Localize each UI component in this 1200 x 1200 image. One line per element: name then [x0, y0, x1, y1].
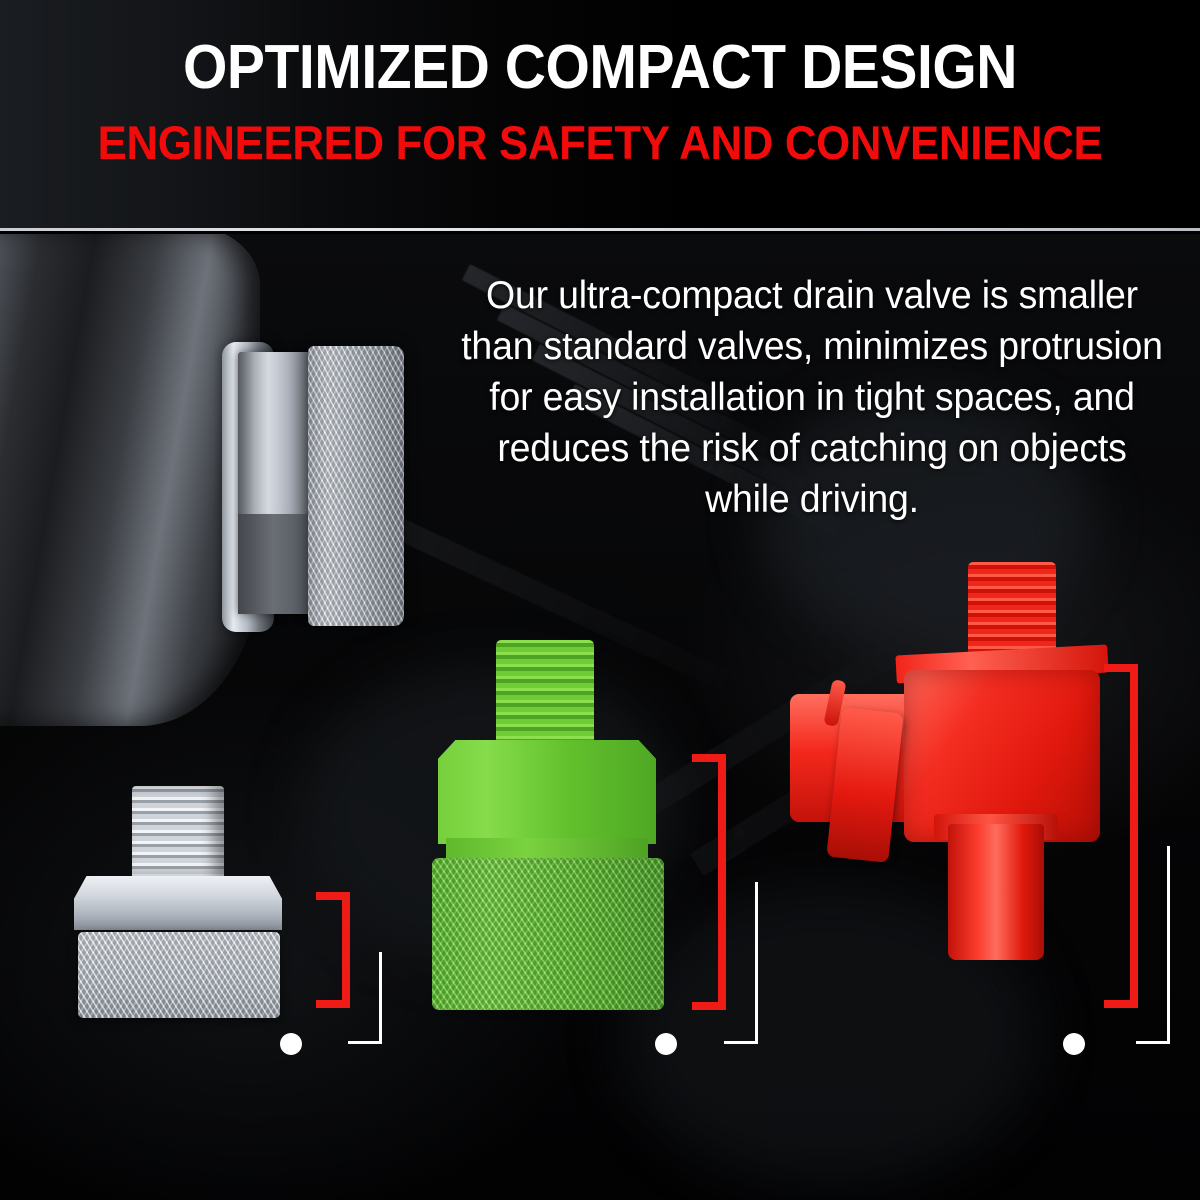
- header-band: OPTIMIZED COMPACT DESIGN ENGINEERED FOR …: [0, 0, 1200, 231]
- measurement-bracket-typical: [692, 754, 726, 1010]
- green-valve-thread: [496, 640, 594, 746]
- comparison-item-votex-drain-valve: [56, 786, 316, 1026]
- silver-valve-hex-nut: [74, 876, 282, 930]
- green-valve-knurled-base: [432, 858, 664, 1010]
- infographic-page: OPTIMIZED COMPACT DESIGN ENGINEERED FOR …: [0, 0, 1200, 1200]
- silver-valve-knurled-base: [78, 932, 280, 1018]
- page-subtitle: ENGINEERED FOR SAFETY AND CONVENIENCE: [42, 118, 1158, 168]
- measurement-bracket-protruding: [1104, 664, 1138, 1008]
- leader-dot-typical: [655, 1033, 677, 1055]
- description-text: Our ultra-compact drain valve is smaller…: [457, 270, 1167, 525]
- green-valve-shoulder: [438, 740, 656, 844]
- leader-dot-protruding: [1063, 1033, 1085, 1055]
- leader-line-protruding: [1136, 846, 1170, 1044]
- measurement-bracket-votex: [316, 892, 350, 1008]
- oil-pan-body: [0, 234, 260, 726]
- red-valve-outlet-nipple: [948, 824, 1044, 960]
- comparison-item-typical-bulkier-valve: [428, 640, 674, 1020]
- main-stage: Our ultra-compact drain valve is smaller…: [0, 234, 1200, 1200]
- leader-line-typical: [724, 882, 758, 1044]
- silver-valve-thread: [132, 786, 224, 878]
- leader-line-votex: [348, 952, 382, 1044]
- page-title: OPTIMIZED COMPACT DESIGN: [48, 36, 1152, 100]
- hero-knurled-cap: [308, 346, 404, 626]
- hero-valve-photo: [0, 234, 430, 744]
- comparison-item-protruding-lever-valve: [786, 562, 1116, 1022]
- leader-dot-votex: [280, 1033, 302, 1055]
- red-valve-thread: [968, 562, 1056, 660]
